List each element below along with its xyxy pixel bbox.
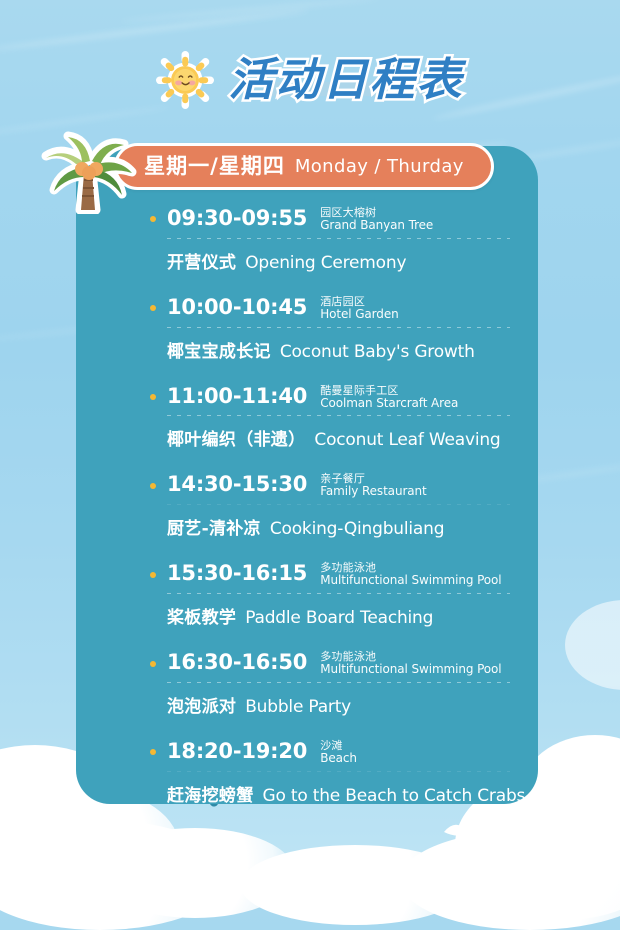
schedule-activity: 赶海挖螃蟹Go to the Beach to Catch Crabs bbox=[167, 781, 510, 806]
schedule-divider bbox=[167, 504, 510, 505]
schedule-time: 18:20-19:20 bbox=[167, 740, 307, 763]
cloud bbox=[10, 790, 180, 910]
schedule-divider bbox=[167, 682, 510, 683]
schedule-time: 10:00-10:45 bbox=[167, 296, 307, 319]
schedule-entry[interactable]: 09:30-09:55园区大榕树Grand Banyan Tree开营仪式Ope… bbox=[150, 205, 510, 273]
schedule-entry-header: 11:00-11:40酷曼星际手工区Coolman Starcraft Area bbox=[150, 383, 510, 415]
schedule-activity-en: Go to the Beach to Catch Crabs bbox=[263, 786, 526, 806]
cloud bbox=[565, 600, 620, 690]
cloud bbox=[0, 820, 230, 930]
schedule-divider bbox=[167, 593, 510, 594]
schedule-entry-header: 16:30-16:50多功能泳池Multifunctional Swimming… bbox=[150, 649, 510, 681]
schedule-location: 多功能泳池Multifunctional Swimming Pool bbox=[320, 649, 501, 676]
schedule-activity-en: Bubble Party bbox=[245, 697, 351, 717]
cloud bbox=[95, 828, 295, 918]
page-title: 活动日程表 bbox=[228, 57, 463, 102]
schedule-entry[interactable]: 10:00-10:45酒店园区Hotel Garden椰宝宝成长记Coconut… bbox=[150, 294, 510, 362]
schedule-activity-cn: 赶海挖螃蟹 bbox=[167, 781, 254, 806]
schedule-activity-cn: 桨板教学 bbox=[167, 603, 236, 628]
bullet-dot-icon bbox=[150, 394, 156, 400]
bullet-dot-icon bbox=[150, 661, 156, 667]
schedule-divider bbox=[167, 771, 510, 772]
schedule-entry-header: 09:30-09:55园区大榕树Grand Banyan Tree bbox=[150, 205, 510, 237]
schedule-location: 酒店园区Hotel Garden bbox=[320, 294, 398, 321]
bullet-dot-icon bbox=[150, 749, 156, 755]
sun-icon bbox=[156, 51, 214, 109]
schedule-location-en: Beach bbox=[320, 752, 357, 765]
schedule-entry[interactable]: 11:00-11:40酷曼星际手工区Coolman Starcraft Area… bbox=[150, 383, 510, 451]
cloud-wisp bbox=[120, 0, 379, 23]
schedule-location: 酷曼星际手工区Coolman Starcraft Area bbox=[320, 383, 458, 410]
schedule-activity: 泡泡派对Bubble Party bbox=[167, 692, 510, 717]
schedule-time: 16:30-16:50 bbox=[167, 651, 307, 674]
schedule-location-cn: 酒店园区 bbox=[320, 296, 398, 308]
schedule-entry-header: 10:00-10:45酒店园区Hotel Garden bbox=[150, 294, 510, 326]
bullet-dot-icon bbox=[150, 572, 156, 578]
schedule-location: 沙滩Beach bbox=[320, 738, 357, 765]
schedule-divider bbox=[167, 327, 510, 328]
schedule-entry-header: 14:30-15:30亲子餐厅Family Restaurant bbox=[150, 471, 510, 503]
schedule-location: 亲子餐厅Family Restaurant bbox=[320, 471, 426, 498]
schedule-activity: 厨艺-清补凉Cooking-Qingbuliang bbox=[167, 514, 510, 539]
schedule-entry-header: 15:30-16:15多功能泳池Multifunctional Swimming… bbox=[150, 560, 510, 592]
schedule-location-en: Grand Banyan Tree bbox=[320, 219, 433, 232]
schedule-time: 11:00-11:40 bbox=[167, 385, 307, 408]
cloud bbox=[240, 845, 470, 925]
schedule-location-en: Family Restaurant bbox=[320, 485, 426, 498]
schedule-location: 园区大榕树Grand Banyan Tree bbox=[320, 205, 433, 232]
schedule-divider bbox=[167, 415, 510, 416]
schedule-activity: 椰叶编织（非遗）Coconut Leaf Weaving bbox=[167, 425, 510, 450]
schedule-entry[interactable]: 18:20-19:20沙滩Beach赶海挖螃蟹Go to the Beach t… bbox=[150, 738, 510, 806]
day-banner-label-cn: 星期一/星期四 bbox=[144, 156, 285, 177]
schedule-entry-header: 18:20-19:20沙滩Beach bbox=[150, 738, 510, 770]
bullet-dot-icon bbox=[150, 305, 156, 311]
day-banner[interactable]: 星期一/星期四 Monday / Thurday bbox=[114, 143, 494, 190]
schedule-entry[interactable]: 15:30-16:15多功能泳池Multifunctional Swimming… bbox=[150, 560, 510, 628]
schedule-activity: 开营仪式Opening Ceremony bbox=[167, 248, 510, 273]
schedule-activity-cn: 厨艺-清补凉 bbox=[167, 514, 261, 539]
day-banner-label-en: Monday / Thurday bbox=[295, 158, 464, 176]
schedule-activity-en: Coconut Leaf Weaving bbox=[314, 430, 500, 450]
bullet-dot-icon bbox=[150, 483, 156, 489]
schedule-entry[interactable]: 14:30-15:30亲子餐厅Family Restaurant厨艺-清补凉Co… bbox=[150, 471, 510, 539]
schedule-location-en: Multifunctional Swimming Pool bbox=[320, 574, 501, 587]
schedule-activity-cn: 泡泡派对 bbox=[167, 692, 236, 717]
bullet-dot-icon bbox=[150, 216, 156, 222]
palm-tree-icon bbox=[34, 128, 146, 214]
page-title-text: 活动日程表 bbox=[228, 53, 463, 106]
schedule-activity: 椰宝宝成长记Coconut Baby's Growth bbox=[167, 337, 510, 362]
schedule-activity-en: Paddle Board Teaching bbox=[245, 608, 433, 628]
schedule-location: 多功能泳池Multifunctional Swimming Pool bbox=[320, 560, 501, 587]
schedule-location-en: Multifunctional Swimming Pool bbox=[320, 663, 501, 676]
schedule-location-en: Hotel Garden bbox=[320, 308, 398, 321]
schedule-activity-en: Opening Ceremony bbox=[245, 253, 406, 273]
schedule-activity: 桨板教学Paddle Board Teaching bbox=[167, 603, 510, 628]
schedule-time: 14:30-15:30 bbox=[167, 473, 307, 496]
schedule-location-en: Coolman Starcraft Area bbox=[320, 397, 458, 410]
seagull-icon bbox=[440, 812, 490, 842]
schedule-time: 15:30-16:15 bbox=[167, 562, 307, 585]
schedule-divider bbox=[167, 238, 510, 239]
schedule-location-cn: 酷曼星际手工区 bbox=[320, 385, 458, 397]
page-title-row: 活动日程表 bbox=[0, 44, 620, 114]
cloud bbox=[400, 830, 620, 930]
schedule-activity-cn: 开营仪式 bbox=[167, 248, 236, 273]
schedule-list: 09:30-09:55园区大榕树Grand Banyan Tree开营仪式Ope… bbox=[150, 205, 510, 806]
schedule-time: 09:30-09:55 bbox=[167, 207, 307, 230]
schedule-activity-cn: 椰宝宝成长记 bbox=[167, 337, 271, 362]
schedule-activity-en: Coconut Baby's Growth bbox=[280, 342, 475, 362]
schedule-activity-cn: 椰叶编织（非遗） bbox=[167, 425, 305, 450]
schedule-activity-en: Cooking-Qingbuliang bbox=[270, 519, 444, 539]
schedule-entry[interactable]: 16:30-16:50多功能泳池Multifunctional Swimming… bbox=[150, 649, 510, 717]
